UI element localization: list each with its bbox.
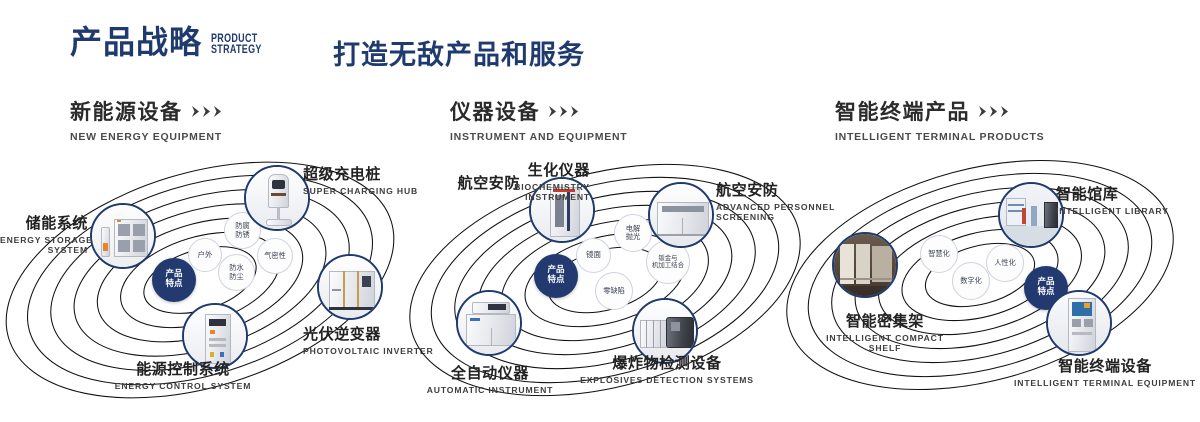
feature-bubble-zerodefect: 零缺陷 [595, 272, 633, 310]
node-label-explosives-detector: 爆炸物检测设备 EXPLOSIVES DETECTION SYSTEMS [572, 352, 762, 385]
node-photo-compact-shelf[interactable] [832, 232, 898, 298]
node-label-control-system: 能源控制系统 ENERGY CONTROL SYSTEM [88, 358, 278, 391]
node-photo-personnel-screening[interactable] [648, 182, 714, 248]
node-label-compact-shelf: 智能密集架 INTELLIGENT COMPACT SHELF [790, 310, 980, 353]
feature-bubble-intelligent: 智慧化 [920, 235, 958, 273]
node-photo-terminal-kiosk[interactable] [1046, 290, 1112, 356]
node-photo-energy-storage[interactable] [90, 203, 156, 269]
feature-bubble-mirror: 镜面 [576, 238, 611, 273]
page-subtitle: 打造无敌产品和服务 [333, 33, 585, 72]
feature-bubble-digital: 数字化 [952, 262, 990, 300]
node-label-biochemistry-instrument: 生化仪器 BIOCHEMISTRY INSTRUMENT [450, 159, 590, 202]
feature-bubble-airtightness: 气密性 [257, 238, 293, 274]
section-header-new-energy: 新能源设备 NEW ENERGY EQUIPMENT [70, 96, 226, 143]
section-title-en-1: NEW ENERGY EQUIPMENT [70, 131, 226, 143]
page-title: 产品战略 PRODUCT STRATEGY [70, 26, 276, 58]
node-photo-pv-inverter[interactable] [317, 254, 383, 320]
feature-bubble-electropolishing: 电解抛光 [614, 214, 652, 252]
node-label-energy-storage: 储能系统 ENERGY STORAGE SYSTEM [0, 212, 88, 255]
core-bubble-line1: 产品 [165, 269, 182, 279]
cluster-new-energy: 产品 特点 户外 防腐防锈 防水防尘 气密性 [0, 150, 420, 410]
section-title-cn-2: 仪器设备 [450, 96, 540, 126]
core-bubble-1: 产品 特点 [152, 258, 196, 302]
feature-bubble-humanized: 人性化 [986, 244, 1024, 282]
cluster-intelligent-terminal: 智慧化 数字化 人性化 产品特点 智能馆库 INTELLIGENT LIB [790, 150, 1200, 410]
section-title-en-3: INTELLIGENT TERMINAL PRODUCTS [835, 131, 1044, 143]
node-label-smart-library: 智能馆库 INTELLIGENT LIBRARY [1056, 183, 1169, 216]
chevron-right-icon [979, 106, 1013, 117]
section-title-cn-1: 新能源设备 [70, 96, 183, 126]
page-title-en: PRODUCT STRATEGY [211, 34, 262, 56]
core-bubble-line2: 特点 [165, 279, 182, 289]
section-title-cn-3: 智能终端产品 [835, 96, 970, 126]
core-bubble-2: 产品特点 [534, 254, 578, 298]
feature-bubble-outdoor: 户外 [188, 238, 222, 272]
chevron-right-icon [192, 106, 226, 117]
chevron-right-icon [549, 106, 583, 117]
node-photo-automatic-instrument[interactable] [456, 290, 522, 356]
node-label-terminal-kiosk: 智能终端设备 INTELLIGENT TERMINAL EQUIPMENT [1005, 355, 1200, 388]
node-photo-smart-library[interactable] [998, 182, 1064, 248]
feature-bubble-waterproof: 防水防尘 [218, 254, 255, 291]
node-label-automatic-instrument: 全自动仪器 AUTOMATIC INSTRUMENT [410, 362, 570, 395]
section-title-en-2: INSTRUMENT AND EQUIPMENT [450, 131, 627, 143]
section-header-intelligent-terminal: 智能终端产品 INTELLIGENT TERMINAL PRODUCTS [835, 96, 1044, 143]
page-title-cn: 产品战略 [70, 26, 202, 58]
node-photo-charging-pile[interactable] [244, 165, 310, 231]
cluster-instrument: 产品特点 镜面 电解抛光 钣金与机加工结合 零缺陷 航空安防 生化仪器 [400, 150, 820, 410]
section-header-instrument: 仪器设备 INSTRUMENT AND EQUIPMENT [450, 96, 627, 143]
infographic-canvas: 产品战略 PRODUCT STRATEGY 打造无敌产品和服务 新能源设备 NE… [0, 0, 1200, 422]
